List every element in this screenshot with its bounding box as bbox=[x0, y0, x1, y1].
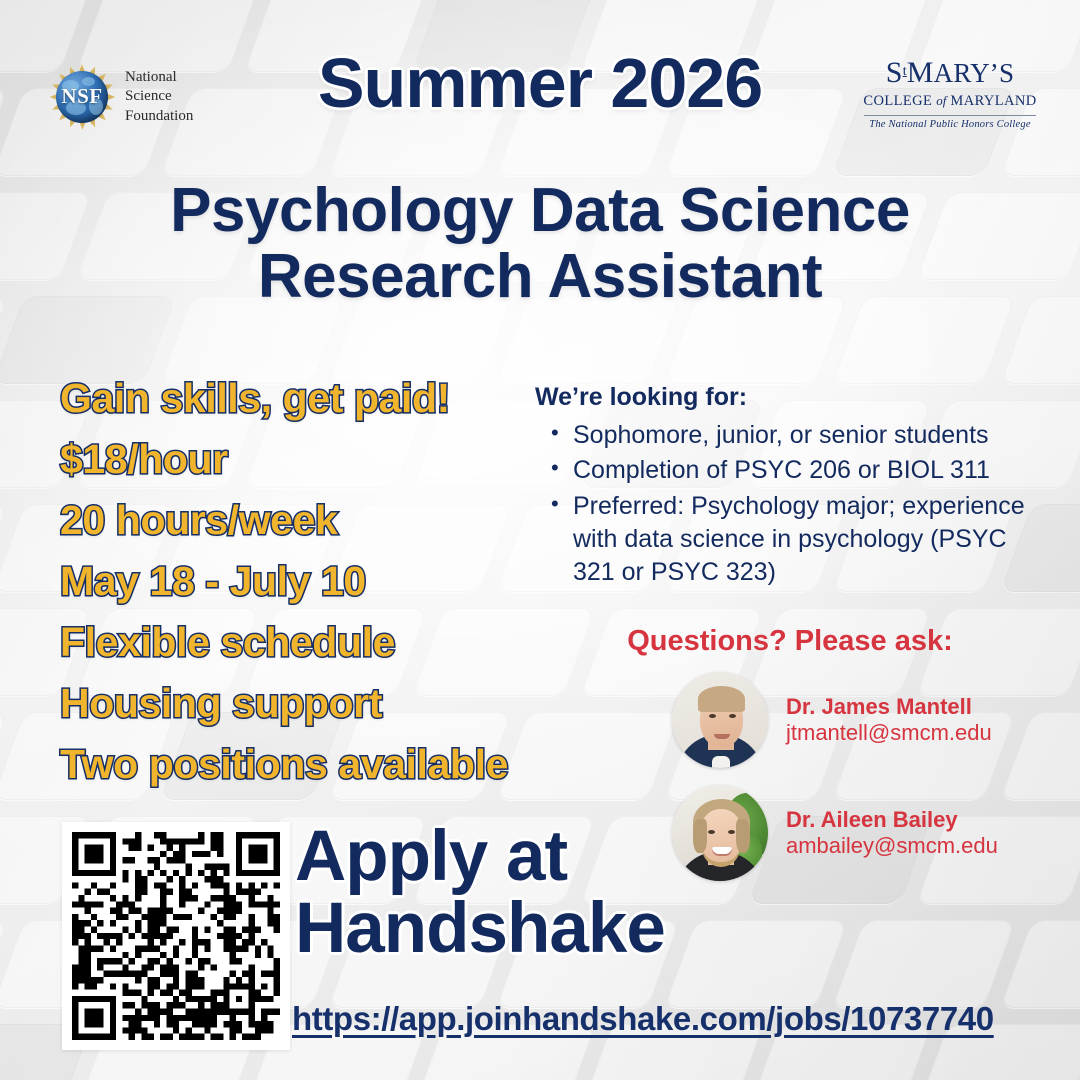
contact-name: Dr. James Mantell bbox=[786, 694, 992, 720]
questions-heading: Questions? Please ask: bbox=[535, 625, 1045, 658]
contact-james-mantell: Dr. James Mantell jtmantell@smcm.edu bbox=[672, 668, 1072, 772]
qr-code[interactable] bbox=[62, 822, 290, 1050]
requirements-heading: We’re looking for: bbox=[535, 383, 1045, 412]
apply-line-2: Handshake bbox=[295, 894, 1080, 964]
contact-details: Dr. James Mantell jtmantell@smcm.edu bbox=[786, 694, 992, 746]
list-item: Sophomore, junior, or senior students bbox=[573, 419, 1045, 452]
page-title-term: Summer 2026 bbox=[0, 48, 1080, 118]
requirements-section: We’re looking for: Sophomore, junior, or… bbox=[535, 383, 1045, 591]
apply-callout: Apply at Handshake bbox=[295, 822, 1080, 963]
smcm-tagline: The National Public Honors College bbox=[852, 119, 1048, 130]
avatar bbox=[672, 672, 768, 768]
benefit-item: Two positions available bbox=[60, 744, 620, 785]
benefit-item: Housing support bbox=[60, 683, 620, 724]
poster-canvas: NSF National Science Foundation StMARY’S… bbox=[0, 0, 1080, 1080]
apply-url-link[interactable]: https://app.joinhandshake.com/jobs/10737… bbox=[292, 1000, 1080, 1038]
contact-email[interactable]: jtmantell@smcm.edu bbox=[786, 720, 992, 746]
apply-line-1: Apply at bbox=[295, 822, 1080, 892]
page-title-line-2: Research Assistant bbox=[60, 244, 1020, 310]
list-item: Preferred: Psychology major; experience … bbox=[573, 490, 1045, 590]
qr-code-svg bbox=[72, 832, 280, 1040]
requirements-list: Sophomore, junior, or senior students Co… bbox=[535, 419, 1045, 589]
page-title-line-1: Psychology Data Science bbox=[60, 178, 1020, 244]
list-item: Completion of PSYC 206 or BIOL 311 bbox=[573, 454, 1045, 487]
page-title-position: Psychology Data Science Research Assista… bbox=[60, 178, 1020, 309]
